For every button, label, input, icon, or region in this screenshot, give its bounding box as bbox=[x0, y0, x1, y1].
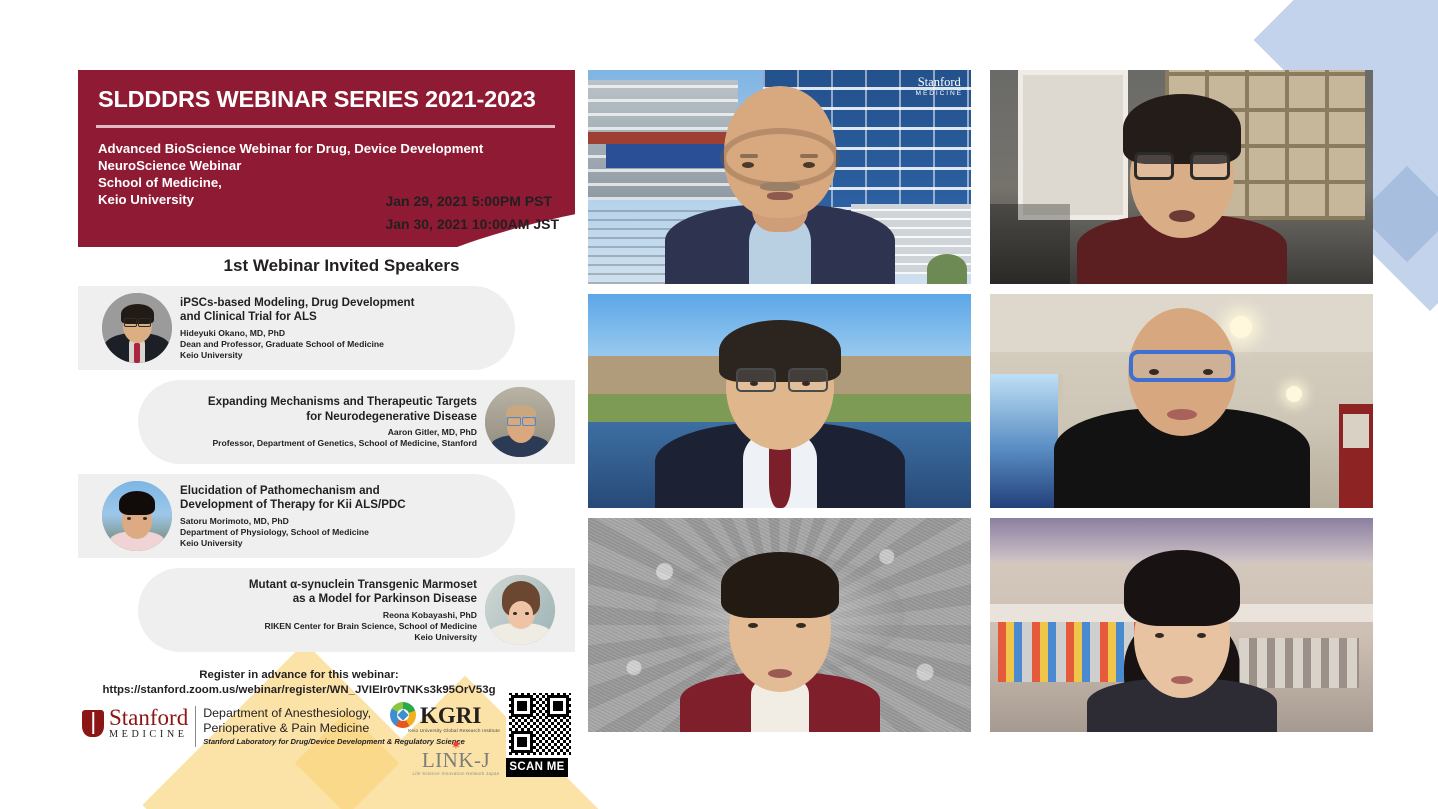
stanford-wordmark: Stanford bbox=[109, 706, 188, 729]
video-tile-office-background[interactable] bbox=[990, 294, 1373, 508]
kgri-logo-top: KGRI bbox=[390, 702, 500, 728]
video-tile-cell-microscopy-background[interactable] bbox=[588, 518, 971, 732]
video-tile-shoji-background[interactable] bbox=[990, 70, 1373, 284]
stanford-overlay-line-1: Stanford bbox=[916, 76, 963, 89]
speaker-title-line1-morimoto: Elucidation of Pathomechanism and bbox=[180, 484, 406, 499]
qr-code-block[interactable]: SCAN ME bbox=[506, 690, 568, 777]
speaker-title-line2-gitler: for Neurodegenerative Disease bbox=[208, 410, 477, 425]
register-label: Register in advance for this webinar: bbox=[78, 668, 520, 683]
speaker-title-line1-okano: iPSCs-based Modeling, Drug Development bbox=[180, 296, 415, 311]
flyer-date-pst: Jan 29, 2021 5:00PM PST bbox=[385, 190, 559, 213]
kgri-mark-icon bbox=[390, 702, 416, 728]
linkj-logo: ✷ LINK-J Life Science Innovation Network… bbox=[390, 740, 500, 776]
speaker-affiliation2-morimoto: Keio University bbox=[180, 538, 406, 549]
speaker-name-kobayashi: Reona Kobayashi, PhD bbox=[249, 610, 477, 621]
qr-finder-top-left bbox=[511, 695, 533, 717]
video-participant-grid: Stanford MEDICINE bbox=[588, 70, 1373, 732]
linkj-wordmark: LINK-J bbox=[412, 749, 500, 771]
stanford-overlay-line-2: MEDICINE bbox=[916, 89, 963, 98]
speaker-title-line1-gitler: Expanding Mechanisms and Therapeutic Tar… bbox=[208, 395, 477, 410]
speaker-info-morimoto: Elucidation of Pathomechanism and Develo… bbox=[172, 484, 414, 549]
speaker-title-line2-okano: and Clinical Trial for ALS bbox=[180, 310, 415, 325]
avatar-okano bbox=[102, 293, 172, 363]
flyer-series-title: SLDDDRS WEBINAR SERIES 2021-2023 bbox=[78, 70, 575, 113]
kgri-subtitle: Keio University Global Research Institut… bbox=[390, 728, 500, 733]
avatar-morimoto bbox=[102, 481, 172, 551]
speaker-affiliation2-okano: Keio University bbox=[180, 350, 415, 361]
stanford-medicine-logo: Stanford MEDICINE bbox=[78, 706, 188, 741]
speaker-card-kobayashi: Mutant α-synuclein Transgenic Marmoset a… bbox=[138, 568, 575, 652]
shared-screen-flyer: SLDDDRS WEBINAR SERIES 2021-2023 Advance… bbox=[78, 70, 575, 720]
register-url[interactable]: https://stanford.zoom.us/webinar/registe… bbox=[78, 683, 520, 698]
speaker-title-line2-morimoto: Development of Therapy for Kii ALS/PDC bbox=[180, 498, 406, 513]
speaker-affiliation1-gitler: Professor, Department of Genetics, Schoo… bbox=[208, 438, 477, 449]
speaker-name-morimoto: Satoru Morimoto, MD, PhD bbox=[180, 516, 406, 527]
flyer-subtitle-line-3: School of Medicine, bbox=[98, 174, 575, 191]
speaker-card-morimoto: Elucidation of Pathomechanism and Develo… bbox=[78, 474, 515, 558]
video-tile-laboratory-background[interactable] bbox=[990, 518, 1373, 732]
speaker-affiliation2-kobayashi: Keio University bbox=[249, 632, 477, 643]
speaker-affiliation1-okano: Dean and Professor, Graduate School of M… bbox=[180, 339, 415, 350]
qr-code-icon[interactable] bbox=[506, 690, 574, 758]
speaker-card-okano: iPSCs-based Modeling, Drug Development a… bbox=[78, 286, 515, 370]
speaker-name-gitler: Aaron Gitler, MD, PhD bbox=[208, 427, 477, 438]
speaker-card-gitler: Expanding Mechanisms and Therapeutic Tar… bbox=[138, 380, 575, 464]
avatar-kobayashi bbox=[485, 575, 555, 645]
invited-speakers-heading: 1st Webinar Invited Speakers bbox=[78, 256, 575, 276]
kgri-wordmark: KGRI bbox=[420, 704, 481, 727]
speaker-title-line1-kobayashi: Mutant α-synuclein Transgenic Marmoset bbox=[249, 578, 477, 593]
flyer-footer: Register in advance for this webinar: ht… bbox=[78, 668, 575, 747]
stanford-shield-icon bbox=[82, 710, 104, 737]
stanford-medicine-wordmark: MEDICINE bbox=[109, 729, 188, 741]
qr-finder-top-right bbox=[547, 695, 569, 717]
flyer-dates: Jan 29, 2021 5:00PM PST Jan 30, 2021 10:… bbox=[385, 190, 559, 236]
flyer-subtitle-line-2: NeuroScience Webinar bbox=[98, 157, 575, 174]
speaker-title-line2-kobayashi: as a Model for Parkinson Disease bbox=[249, 592, 477, 607]
speaker-info-gitler: Expanding Mechanisms and Therapeutic Tar… bbox=[200, 395, 485, 449]
linkj-subtitle: Life Science Innovation Network Japan bbox=[412, 771, 500, 776]
speaker-affiliation1-morimoto: Department of Physiology, School of Medi… bbox=[180, 527, 406, 538]
flyer-banner: SLDDDRS WEBINAR SERIES 2021-2023 Advance… bbox=[78, 70, 575, 247]
speaker-name-okano: Hideyuki Okano, MD, PhD bbox=[180, 328, 415, 339]
avatar-gitler bbox=[485, 387, 555, 457]
speaker-info-okano: iPSCs-based Modeling, Drug Development a… bbox=[172, 296, 423, 361]
speaker-affiliation1-kobayashi: RIKEN Center for Brain Science, School o… bbox=[249, 621, 477, 632]
flyer-date-jst: Jan 30, 2021 10:00AM JST bbox=[385, 213, 559, 236]
scan-me-caption: SCAN ME bbox=[506, 758, 568, 777]
logo-divider bbox=[195, 706, 196, 747]
kgri-logo: KGRI Keio University Global Research Ins… bbox=[390, 702, 500, 776]
flyer-subtitle-line-1: Advanced BioScience Webinar for Drug, De… bbox=[98, 140, 575, 157]
footer-logo-row: Stanford MEDICINE Department of Anesthes… bbox=[78, 706, 575, 747]
video-tile-lake-background[interactable] bbox=[588, 294, 971, 508]
qr-finder-bottom-left bbox=[511, 731, 533, 753]
registration-block: Register in advance for this webinar: ht… bbox=[78, 668, 575, 698]
video-tile-stanford-background[interactable]: Stanford MEDICINE bbox=[588, 70, 971, 284]
speaker-info-kobayashi: Mutant α-synuclein Transgenic Marmoset a… bbox=[241, 578, 485, 643]
stanford-medicine-overlay: Stanford MEDICINE bbox=[916, 76, 963, 98]
